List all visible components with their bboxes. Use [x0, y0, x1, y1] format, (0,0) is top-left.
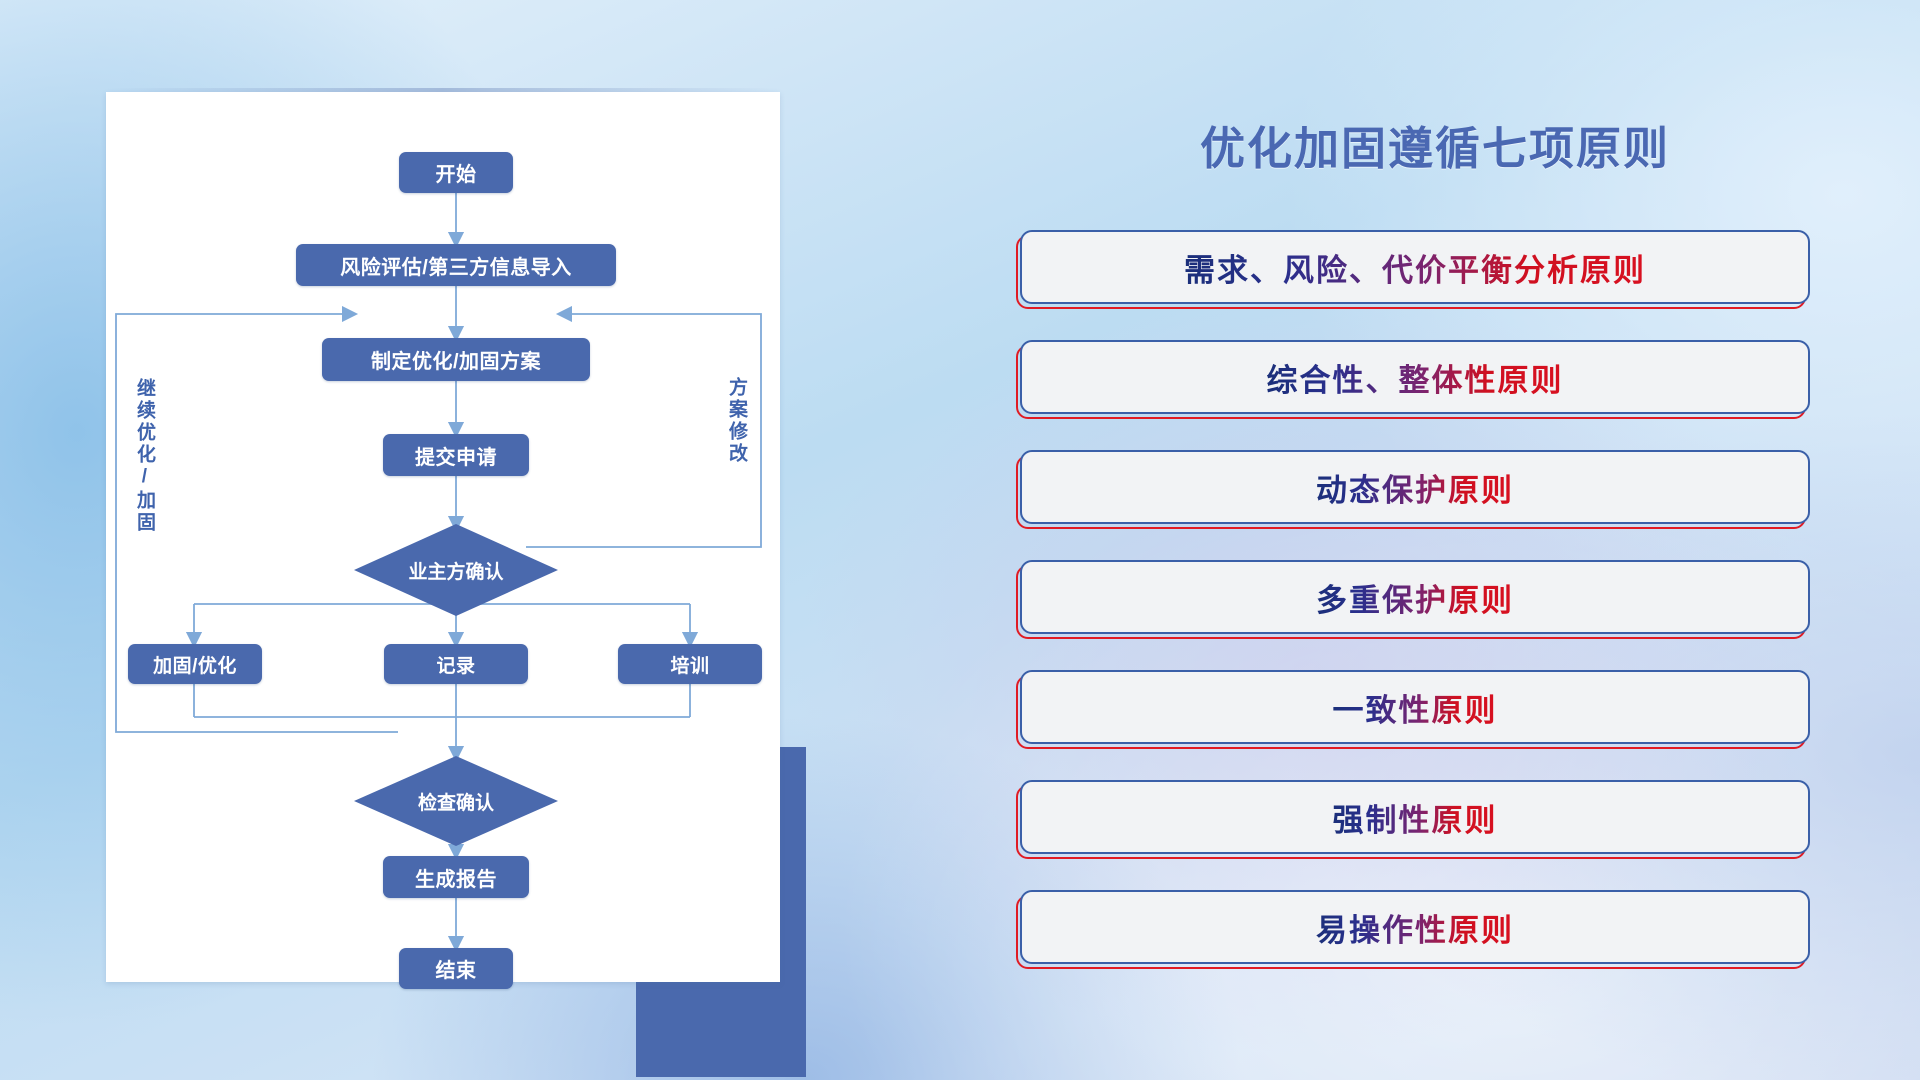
principle-card[interactable]: 需求、风险、代价平衡分析原则: [1020, 230, 1850, 304]
principle-card[interactable]: 一致性原则: [1020, 670, 1850, 744]
flow-node-label: 业主方确认: [408, 557, 503, 584]
principle-card[interactable]: 综合性、整体性原则: [1020, 340, 1850, 414]
flow-edge-label-continue-optimize: 继续优化/加固: [134, 378, 154, 534]
flow-node-label: 风险评估/第三方信息导入: [340, 251, 572, 280]
flow-node-generate-report[interactable]: 生成报告: [383, 856, 529, 898]
principle-label: 强制性原则: [1333, 795, 1498, 840]
principle-card-face[interactable]: 需求、风险、代价平衡分析原则: [1020, 230, 1810, 304]
principle-card[interactable]: 易操作性原则: [1020, 890, 1850, 964]
flow-node-plan[interactable]: 制定优化/加固方案: [322, 338, 590, 381]
principle-card[interactable]: 强制性原则: [1020, 780, 1850, 854]
flow-node-label: 提交申请: [415, 441, 497, 470]
flow-node-label: 制定优化/加固方案: [371, 345, 541, 374]
flow-node-submit-application[interactable]: 提交申请: [383, 434, 529, 476]
principles-title: 优化加固遵循七项原则: [1020, 112, 1850, 177]
principle-card-face[interactable]: 多重保护原则: [1020, 560, 1810, 634]
flow-edge-label-text: 继续优化/加固: [134, 378, 155, 534]
flow-node-label: 培训: [670, 651, 709, 678]
principle-label: 综合性、整体性原则: [1267, 355, 1564, 400]
flow-edge-label-plan-revision: 方案修改: [726, 377, 746, 465]
principles-panel: 优化加固遵循七项原则 需求、风险、代价平衡分析原则 综合性、整体性原则 动态保护…: [1020, 90, 1850, 1010]
principle-card-face[interactable]: 强制性原则: [1020, 780, 1810, 854]
flow-edge-label-text: 方案修改: [726, 377, 747, 465]
flowchart-panel: 开始 风险评估/第三方信息导入 制定优化/加固方案 提交申请 业主方确认 加固/…: [106, 92, 796, 982]
principle-card-face[interactable]: 易操作性原则: [1020, 890, 1810, 964]
flow-node-label: 开始: [436, 158, 477, 187]
principle-card-face[interactable]: 一致性原则: [1020, 670, 1810, 744]
principles-list: 需求、风险、代价平衡分析原则 综合性、整体性原则 动态保护原则 多重保护原则 一: [1020, 230, 1850, 1000]
principle-label: 易操作性原则: [1316, 905, 1514, 950]
principle-label: 多重保护原则: [1316, 575, 1514, 620]
flow-node-record[interactable]: 记录: [384, 644, 528, 684]
flow-node-risk-assessment[interactable]: 风险评估/第三方信息导入: [296, 244, 616, 286]
principle-label: 一致性原则: [1333, 685, 1498, 730]
flow-node-label: 记录: [436, 651, 475, 678]
flow-node-training[interactable]: 培训: [618, 644, 762, 684]
principle-card[interactable]: 多重保护原则: [1020, 560, 1850, 634]
flow-node-label: 检查确认: [418, 788, 494, 815]
flow-node-start[interactable]: 开始: [399, 152, 513, 193]
flow-node-reinforce-optimize[interactable]: 加固/优化: [128, 644, 262, 684]
flow-node-label: 加固/优化: [153, 651, 237, 678]
principle-label: 动态保护原则: [1316, 465, 1514, 510]
principle-card-face[interactable]: 动态保护原则: [1020, 450, 1810, 524]
flow-node-label: 结束: [436, 954, 477, 983]
principle-label: 需求、风险、代价平衡分析原则: [1184, 245, 1646, 290]
flow-node-label: 生成报告: [415, 863, 497, 892]
principle-card[interactable]: 动态保护原则: [1020, 450, 1850, 524]
principle-card-face[interactable]: 综合性、整体性原则: [1020, 340, 1810, 414]
flowchart-card: 开始 风险评估/第三方信息导入 制定优化/加固方案 提交申请 业主方确认 加固/…: [106, 92, 780, 982]
flow-node-end[interactable]: 结束: [399, 948, 513, 989]
